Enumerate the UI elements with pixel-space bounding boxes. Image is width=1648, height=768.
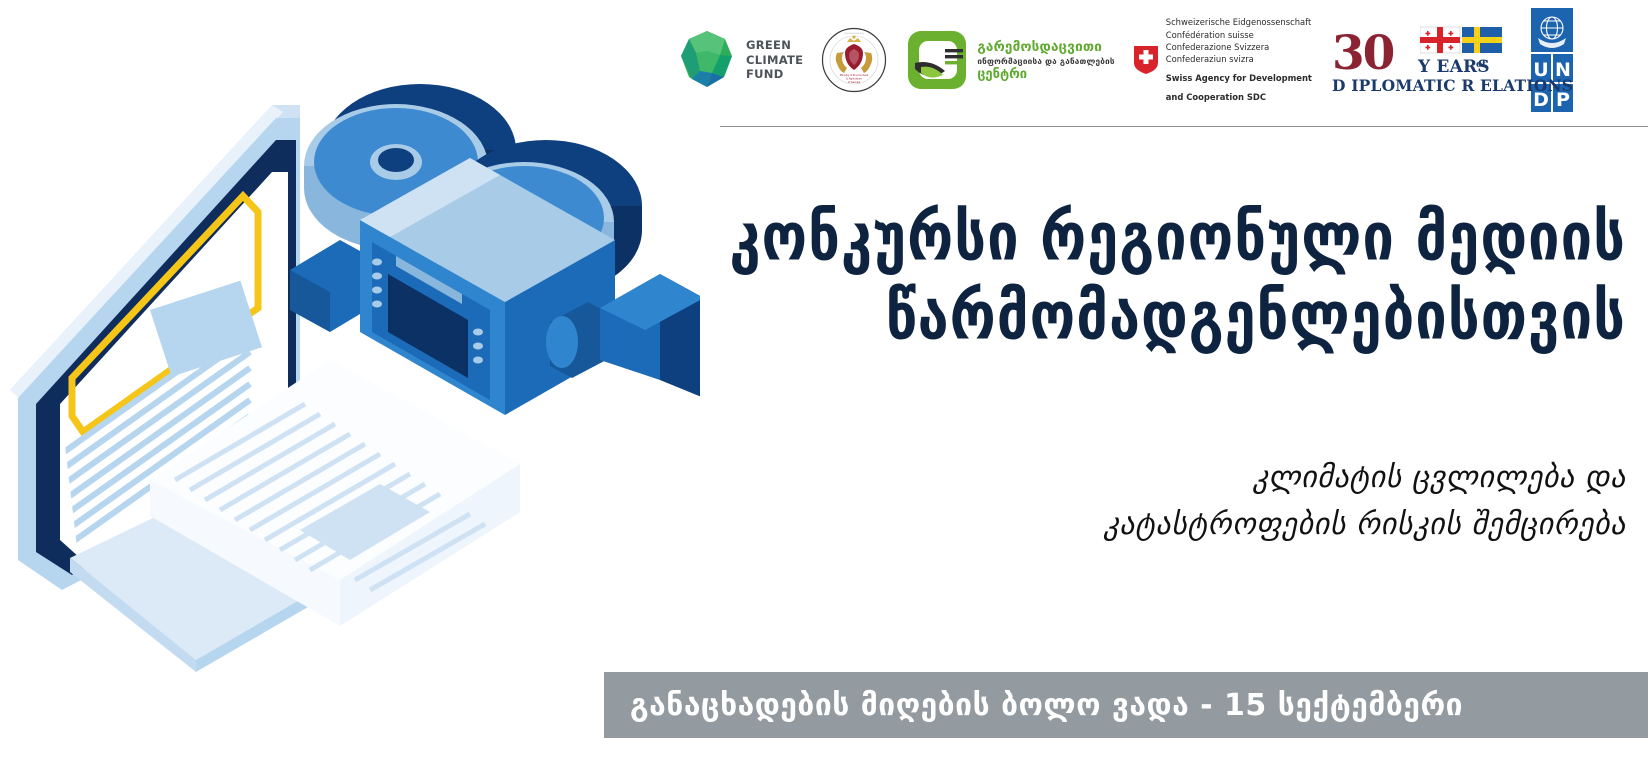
eiec-wordmark: გარემოსდაცვითი ინფორმაციისა და განათლები… <box>977 39 1114 82</box>
eiec-mark-icon <box>905 27 971 93</box>
thirty-years-of-word: of <box>1476 60 1486 70</box>
gcf-line-1: GREEN <box>746 38 803 52</box>
partner-logo-bar: GREEN CLIMATE FUND • • • • <box>676 10 1636 110</box>
subtitle-line-2: კატასტროფების რისკის შემცირება <box>640 502 1626 549</box>
eiec-line-3: ცენტრი <box>977 67 1114 82</box>
sdc-line-2: Confédération suisse <box>1166 29 1312 41</box>
page-title: კონკურსი რეგიონული მედიის წარმომადგენლებ… <box>640 212 1626 356</box>
thirty-years-diplomatic-word: D IPLOMATIC R ELATIONS <box>1332 76 1573 95</box>
eiec-logo: გარემოსდაცვითი ინფორმაციისა და განათლები… <box>905 27 1114 93</box>
georgia-sweden-flags-icon <box>1420 26 1504 56</box>
swiss-sdc-logo: Schweizerische Eidgenossenschaft Confédé… <box>1133 16 1312 103</box>
undp-emblem-icon: U N D P <box>1523 8 1581 112</box>
hero-illustration <box>0 60 700 680</box>
svg-text:of Georgia: of Georgia <box>848 81 861 84</box>
green-climate-fund-logo: GREEN CLIMATE FUND <box>676 29 803 91</box>
poster-canvas: GREEN CLIMATE FUND • • • • <box>0 0 1648 768</box>
undp-logo: U N D P <box>1523 8 1581 112</box>
title-line-2: წარმომადგენლებისთვის <box>640 279 1626 356</box>
svg-text:Ministry of Environment: Ministry of Environment <box>840 74 869 77</box>
sdc-bold-line-1: Swiss Agency for Development <box>1166 72 1312 84</box>
ministry-seal-icon: • • • • • • • • • • Ministry of Environm… <box>821 27 887 93</box>
gcf-line-2: CLIMATE <box>746 53 803 67</box>
sdc-line-3: Confederazione Svizzera <box>1166 41 1312 53</box>
gcf-line-3: FUND <box>746 67 803 81</box>
thirty-years-diplomatic-relations-logo: 30 Y EARS of D IPL <box>1330 24 1505 96</box>
title-line-1: კონკურსი რეგიონული მედიის <box>640 200 1626 277</box>
deadline-banner: განაცხადების მიღების ბოლო ვადა - 15 სექტ… <box>604 672 1648 738</box>
eiec-line-1: გარემოსდაცვითი <box>977 39 1114 55</box>
gcf-wordmark: GREEN CLIMATE FUND <box>746 38 803 81</box>
page-subtitle: კლიმატის ცვლილება და კატასტროფების რისკი… <box>640 455 1626 548</box>
thirty-years-number: 30 <box>1332 26 1393 81</box>
swiss-cross-shield-icon <box>1133 45 1159 75</box>
svg-text:• • • • • • • • • •: • • • • • • • • • • <box>845 32 864 35</box>
swiss-sdc-wordmark: Schweizerische Eidgenossenschaft Confédé… <box>1166 16 1312 103</box>
sdc-bold-line-2: and Cooperation SDC <box>1166 91 1312 103</box>
gcf-globe-icon <box>676 29 738 91</box>
sdc-line-1: Schweizerische Eidgenossenschaft <box>1166 16 1312 28</box>
georgia-ministry-seal-logo: • • • • • • • • • • Ministry of Environm… <box>821 27 887 93</box>
deadline-text: განაცხადების მიღების ბოლო ვადა - 15 სექტ… <box>604 688 1463 723</box>
eiec-line-2: ინფორმაციისა და განათლების <box>977 56 1114 66</box>
sdc-line-4: Confederaziun svizra <box>1166 53 1312 65</box>
subtitle-line-1: კლიმატის ცვლილება და <box>640 455 1626 502</box>
header-divider <box>720 126 1648 127</box>
